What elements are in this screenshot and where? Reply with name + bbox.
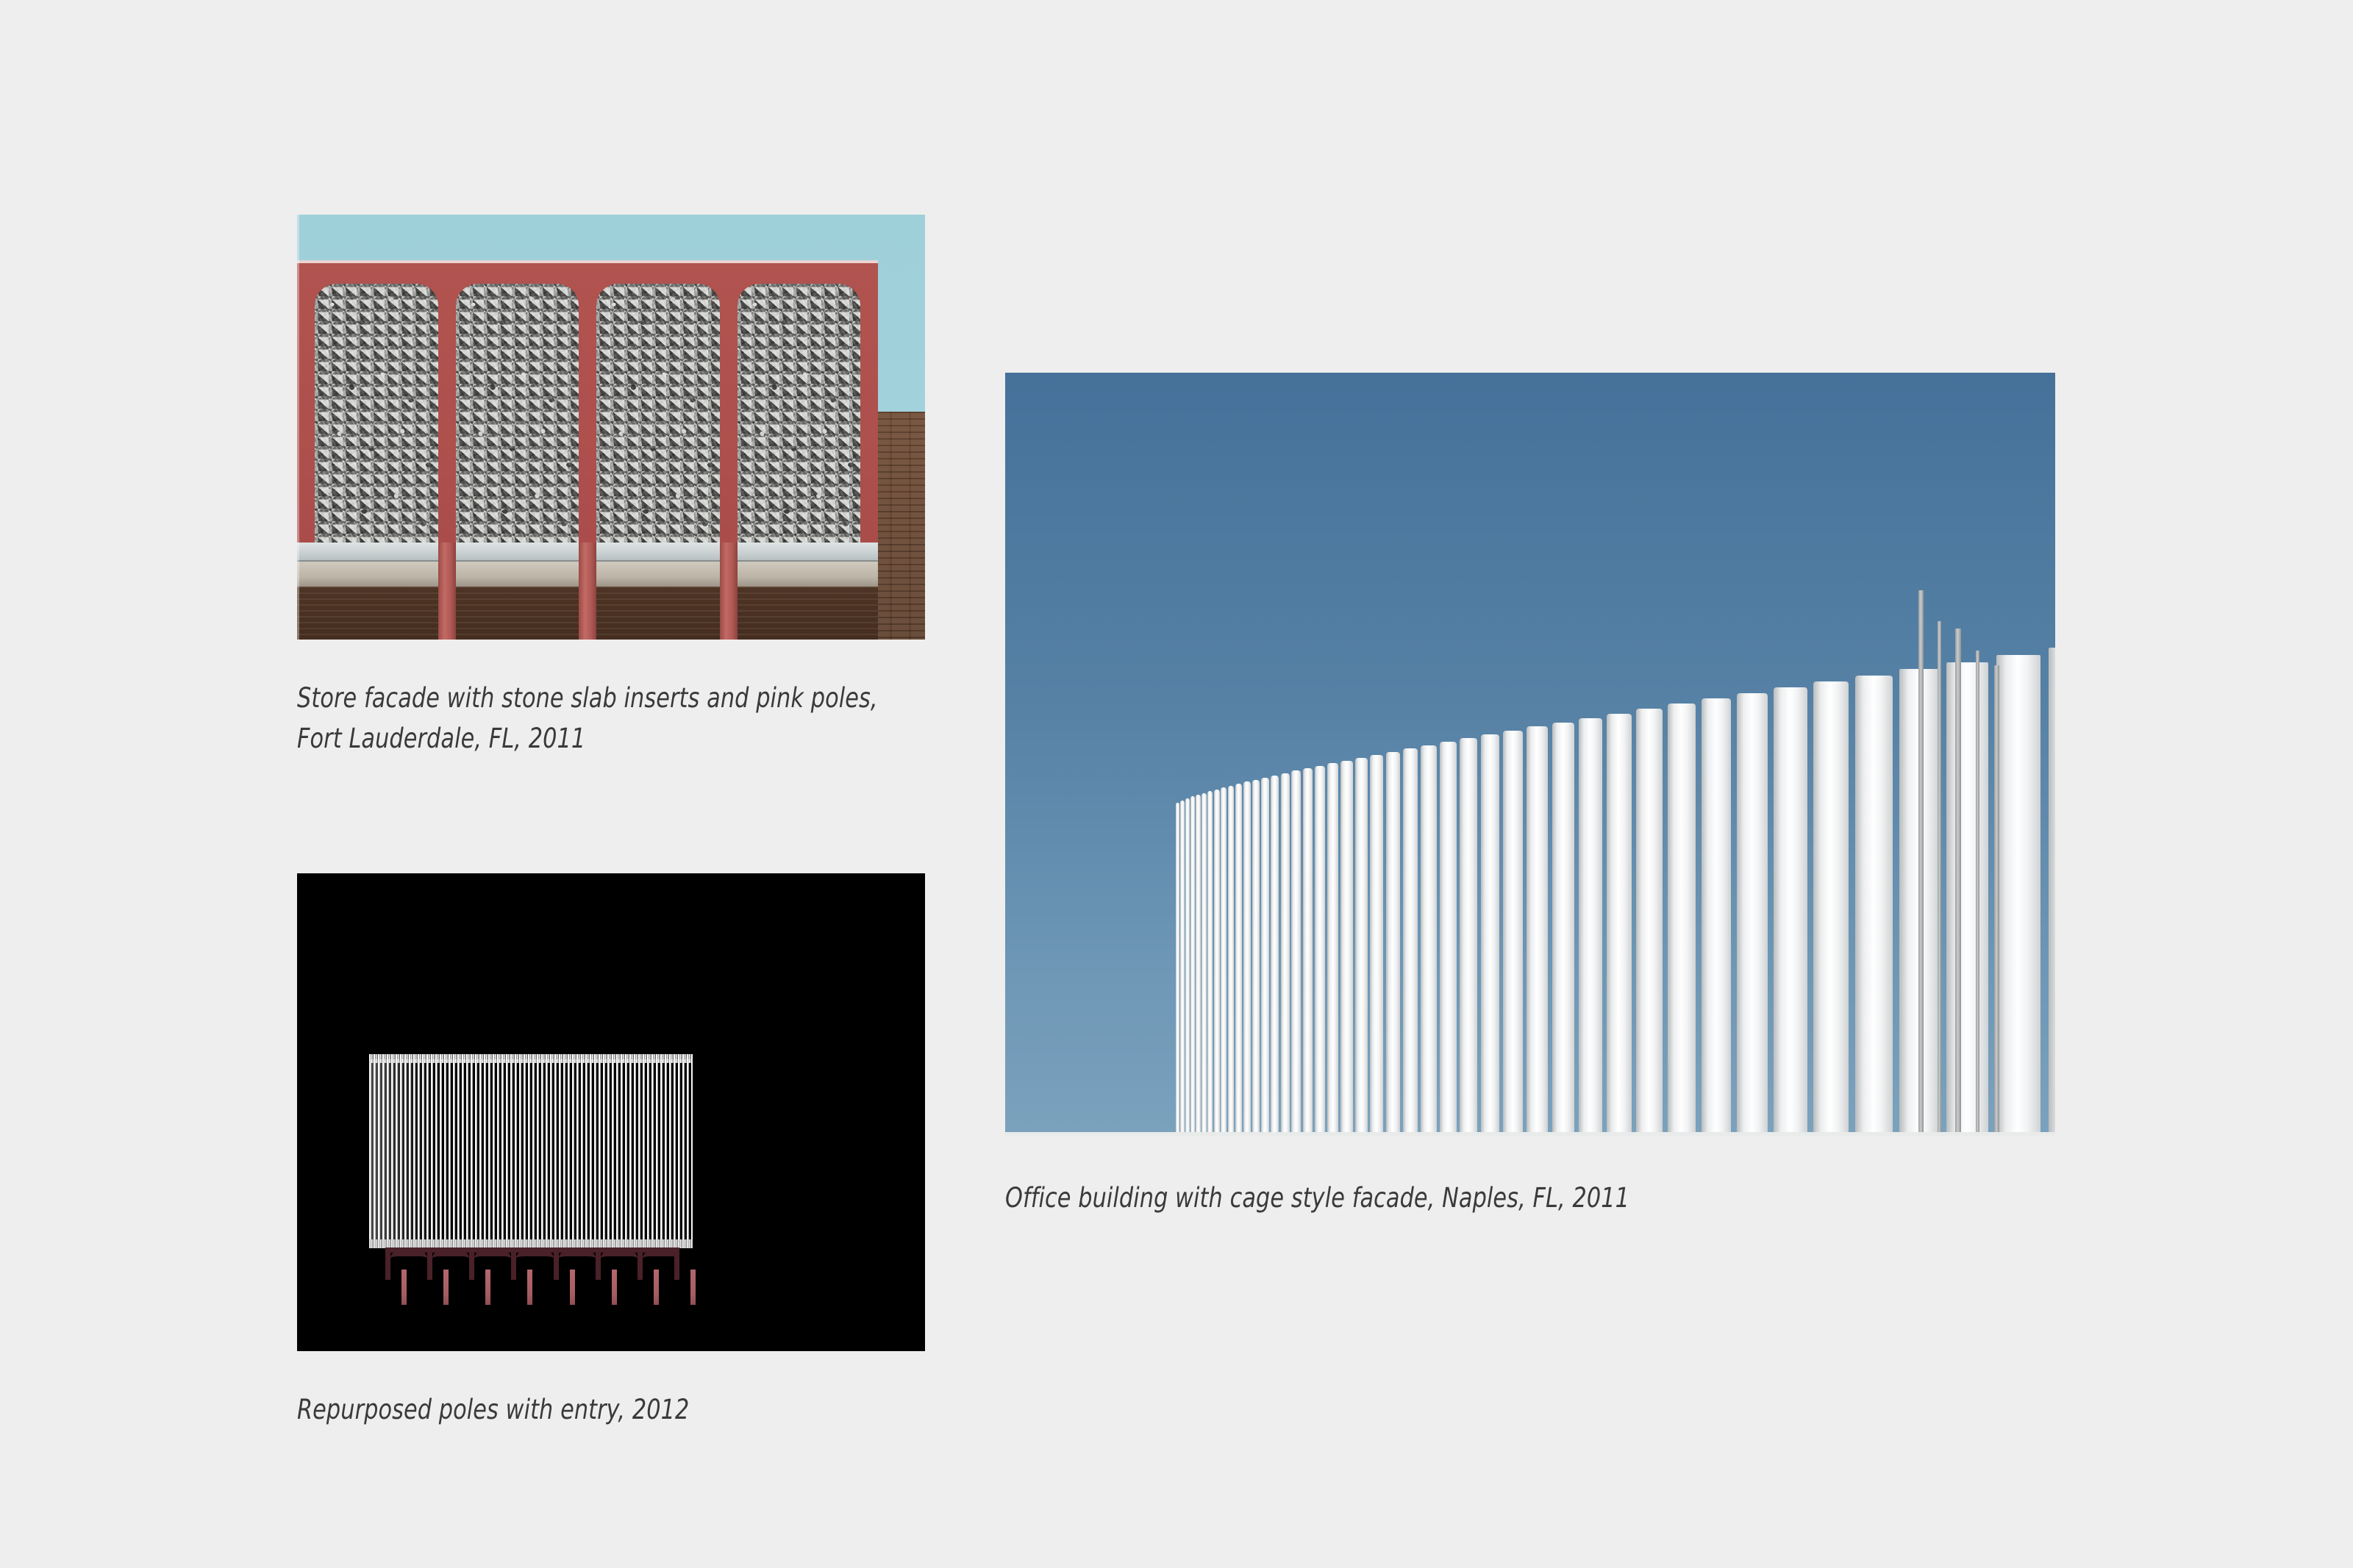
- facade-fin: [1291, 770, 1301, 1136]
- pink-entry-pin: [612, 1270, 617, 1305]
- facade-fin: [2049, 648, 2055, 1136]
- arcade-arch: [516, 1251, 553, 1272]
- facade-fin: [1481, 734, 1500, 1136]
- facade-fin: [1440, 742, 1457, 1136]
- facade-fin: [1702, 698, 1731, 1136]
- far-fin: [1938, 621, 1941, 1136]
- caption-repurposed-poles: Repurposed poles with entry, 2012: [297, 1389, 960, 1430]
- pink-pole: [720, 543, 738, 640]
- facade-fin: [1607, 714, 1632, 1136]
- model-cap-serration: [369, 1054, 693, 1059]
- facade-fin: [1228, 786, 1235, 1136]
- facade-fin: [1460, 738, 1477, 1136]
- pink-entry-pin: [654, 1270, 659, 1305]
- photo-store-facade[interactable]: [297, 215, 925, 640]
- caption-office-building: Office building with cage style facade, …: [1005, 1178, 1789, 1218]
- facade-fin: [1190, 796, 1195, 1136]
- arcade-arch: [432, 1251, 469, 1272]
- facade-fin: [1252, 780, 1260, 1136]
- facade-fin: [1243, 781, 1251, 1136]
- facade-fin: [1370, 755, 1383, 1136]
- facade-fin: [1261, 778, 1269, 1136]
- facade-fin: [1421, 745, 1437, 1136]
- arcade-leg: [385, 1247, 390, 1280]
- model-assembly: [369, 1050, 693, 1256]
- arcade-leg: [511, 1247, 516, 1280]
- facade-fin: [1855, 676, 1893, 1136]
- facade-fin: [1527, 726, 1548, 1136]
- facade-fin: [1737, 693, 1768, 1136]
- facade-fin: [1271, 776, 1279, 1136]
- arcade-leg: [596, 1247, 601, 1280]
- facade-fin: [1996, 655, 2040, 1136]
- pink-entry-pin: [401, 1270, 407, 1305]
- caption-store-facade: Store facade with stone slab inserts and…: [297, 678, 960, 759]
- ground-line: [1005, 1132, 2055, 1136]
- facade-fin: [1946, 662, 1988, 1136]
- facade-fin: [1340, 761, 1352, 1136]
- pink-entry-pin: [690, 1270, 696, 1305]
- facade-fin: [1196, 795, 1201, 1136]
- arcade-structure: [385, 1247, 679, 1280]
- facade-fin: [1303, 768, 1313, 1136]
- arcade-arch: [474, 1251, 511, 1272]
- figure-repurposed-poles[interactable]: [297, 873, 925, 1351]
- facade-fin: [1636, 709, 1663, 1136]
- stone-slab-insert: [315, 284, 438, 543]
- pink-pole: [579, 543, 596, 640]
- photo-left-edge: [297, 215, 299, 640]
- facade-fin: [1579, 718, 1602, 1136]
- facade-fin: [1214, 790, 1220, 1136]
- frame-highlight: [297, 260, 878, 263]
- arcade-leg: [554, 1247, 559, 1280]
- far-fin: [1994, 665, 1999, 1136]
- pink-pole: [438, 543, 456, 640]
- facade-fin: [1180, 801, 1185, 1136]
- far-fin: [1976, 651, 1979, 1136]
- pink-entry-pin: [570, 1270, 575, 1305]
- facade-fin: [1386, 752, 1400, 1136]
- facade-fin: [1327, 763, 1338, 1136]
- stone-panel-group: [297, 284, 878, 543]
- facade-fin: [1185, 798, 1190, 1136]
- facade-fin: [1552, 723, 1574, 1136]
- arcade-arch: [559, 1251, 596, 1272]
- arcade-arch: [601, 1251, 638, 1272]
- fin-array: [1005, 373, 2055, 1136]
- arcade-arch: [390, 1251, 427, 1272]
- rod-highlight: [369, 1063, 435, 1241]
- facade-fin: [1813, 681, 1849, 1136]
- facade-fin: [1207, 791, 1213, 1136]
- arcade-leg: [427, 1247, 432, 1280]
- facade-fin: [1403, 748, 1418, 1136]
- facade-fin: [1281, 773, 1290, 1136]
- facade-fin: [1221, 787, 1227, 1136]
- arcade-arch: [643, 1251, 679, 1272]
- arcade-leg: [469, 1247, 474, 1280]
- facade-fin: [1315, 766, 1325, 1136]
- pink-entry-pin: [527, 1270, 532, 1305]
- far-fin: [1955, 629, 1961, 1136]
- stone-slab-insert: [456, 284, 579, 543]
- pink-entry-pin: [443, 1270, 449, 1305]
- figure-office-building[interactable]: [1005, 373, 2055, 1136]
- far-fin: [1918, 590, 1924, 1136]
- arcade-leg: [638, 1247, 643, 1280]
- photo-office-building[interactable]: [1005, 373, 2055, 1136]
- page-canvas: Store facade with stone slab inserts and…: [0, 0, 2353, 1568]
- stone-slab-insert: [738, 284, 861, 543]
- facade-fin: [1235, 784, 1242, 1136]
- photo-repurposed-poles[interactable]: [297, 873, 925, 1351]
- pink-entry-pin: [485, 1270, 490, 1305]
- facade-fin: [1176, 803, 1179, 1136]
- facade-fin: [1355, 758, 1368, 1136]
- figure-store-facade[interactable]: [297, 215, 925, 640]
- facade-fin: [1774, 687, 1807, 1136]
- facade-fin: [1503, 731, 1523, 1136]
- facade-fin: [1202, 793, 1207, 1136]
- facade-fin: [1668, 704, 1696, 1136]
- stone-slab-insert: [596, 284, 720, 543]
